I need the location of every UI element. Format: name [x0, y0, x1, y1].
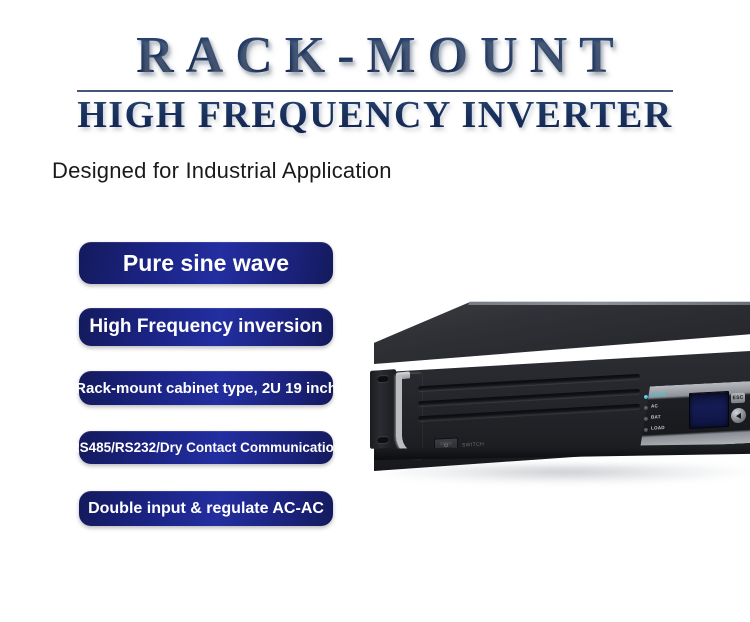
product-image: ⏻ SWITCH DC/AC AC BAT LOAD ESC	[362, 296, 750, 496]
feature-badge: Pure sine wave	[79, 242, 333, 284]
led-indicator-icon	[644, 416, 648, 420]
product-banner: RACK-MOUNT HIGH FREQUENCY INVERTER Desig…	[0, 0, 750, 622]
rack-mount-ear	[370, 369, 396, 449]
led-label: BAT	[651, 415, 661, 420]
led-indicator-icon	[644, 394, 648, 398]
led-label: AC	[651, 405, 658, 410]
page-subtitle: HIGH FREQUENCY INVERTER	[0, 94, 750, 136]
lcd-display	[689, 391, 729, 429]
led-indicator-icon	[644, 427, 648, 431]
vent-slot	[418, 404, 640, 421]
feature-badge: Rack-mount cabinet type, 2U 19 inch	[79, 371, 333, 405]
led-indicator-icon	[644, 405, 648, 409]
left-arrow-icon	[736, 412, 741, 418]
rack-ear-hole	[377, 436, 389, 444]
led-label: LOAD	[651, 426, 665, 431]
tagline: Designed for Industrial Application	[52, 158, 392, 184]
status-led-load: LOAD	[644, 422, 684, 435]
feature-badge: Double input & regulate AC-AC	[79, 491, 333, 526]
status-led-group: DC/AC AC BAT LOAD	[644, 389, 684, 435]
title-divider	[77, 90, 673, 92]
esc-button: ESC	[731, 393, 745, 404]
product-shadow	[380, 464, 750, 484]
feature-badge-list: Pure sine wave High Frequency inversion …	[79, 242, 339, 526]
header: RACK-MOUNT HIGH FREQUENCY INVERTER	[0, 28, 750, 136]
rack-ear-hole	[377, 375, 389, 383]
chassis-top-edge	[374, 301, 750, 305]
page-title: RACK-MOUNT	[0, 28, 750, 84]
vent-slot	[418, 389, 640, 406]
led-label: DC/AC	[651, 393, 667, 398]
feature-badge: RS485/RS232/Dry Contact Communication	[79, 431, 333, 464]
feature-badge: High Frequency inversion	[79, 308, 333, 346]
